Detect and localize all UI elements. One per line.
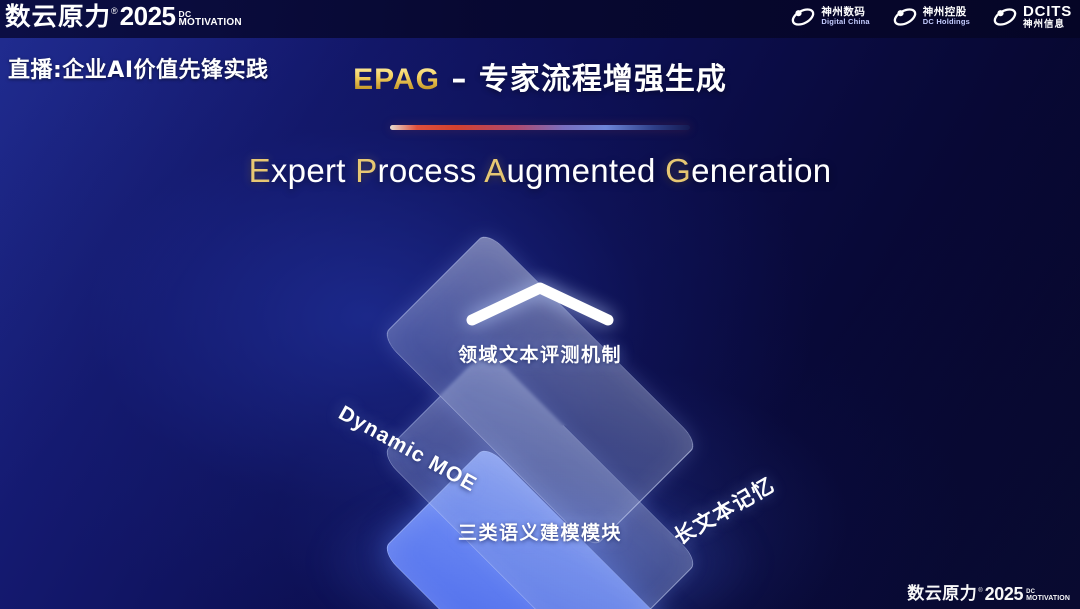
subtitle-cap-g: G — [665, 152, 691, 189]
partner-text: DCITS 神州信息 — [1023, 4, 1072, 30]
footer-watermark-logo: 数云原力 ® 2025 DC MOTIVATION — [907, 585, 1070, 603]
brand-registered-mark: ® — [111, 7, 118, 16]
live-broadcast-title: 直播:企业AI价值先锋实践 — [8, 52, 269, 84]
partner-name-cn: 神州信息 — [1023, 20, 1072, 30]
subtitle-rest-augmented: ugmented — [507, 152, 656, 189]
subtitle-expansion: Expert Process Augmented Generation — [0, 152, 1080, 190]
layered-stack-diagram: 领域文本评测机制 Dynamic MOE 长文本记忆 三类语义建模模块 — [280, 232, 800, 592]
slide-canvas: 数云原力 ® 2025 DC MOTIVATION 直播:企业AI价值先锋实践 … — [0, 0, 1080, 609]
watermark-registered-mark: ® — [978, 588, 982, 594]
watermark-dc-motivation: DC MOTIVATION — [1026, 589, 1070, 602]
partner-logo-dc-holdings: 神州控股 DC Holdings — [892, 5, 970, 29]
swirl-logo-icon — [992, 5, 1018, 29]
watermark-motivation-label: MOTIVATION — [1026, 595, 1070, 602]
partner-name-en: Digital China — [821, 18, 869, 26]
subtitle-cap-a: A — [484, 152, 506, 189]
brand-dc-motivation: DC MOTIVATION — [179, 10, 242, 29]
partner-logo-group: 神州数码 Digital China 神州控股 DC Holdings DCIT… — [790, 4, 1072, 30]
subtitle-rest-expert: xpert — [271, 152, 346, 189]
watermark-name-cn: 数云原力 — [907, 586, 977, 603]
partner-logo-dcits: DCITS 神州信息 — [992, 4, 1072, 30]
swirl-logo-icon — [790, 5, 816, 29]
brand-year: 2025 — [120, 3, 176, 29]
partner-name-en: DCITS — [1023, 4, 1072, 20]
subtitle-cap-e: E — [249, 152, 271, 189]
main-title-chinese: 专家流程增强生成 — [479, 62, 727, 97]
partner-text: 神州数码 Digital China — [821, 7, 869, 26]
subtitle-rest-generation: eneration — [691, 152, 831, 189]
partner-text: 神州控股 DC Holdings — [923, 7, 970, 26]
subtitle-rest-process: rocess — [378, 152, 477, 189]
brand-motivation-label: MOTIVATION — [179, 18, 242, 28]
partner-logo-digital-china: 神州数码 Digital China — [790, 5, 869, 29]
main-title-acronym: EPAG — [353, 63, 440, 96]
swirl-logo-icon — [892, 5, 918, 29]
brand-name-cn: 数云原力 — [5, 4, 111, 29]
watermark-year: 2025 — [985, 585, 1023, 603]
partner-name-en: DC Holdings — [923, 18, 970, 26]
brand-logo: 数云原力 ® 2025 DC MOTIVATION — [6, 3, 242, 29]
subtitle-cap-p: P — [355, 152, 377, 189]
main-title-separator: – — [440, 62, 479, 97]
gradient-divider — [390, 125, 690, 130]
